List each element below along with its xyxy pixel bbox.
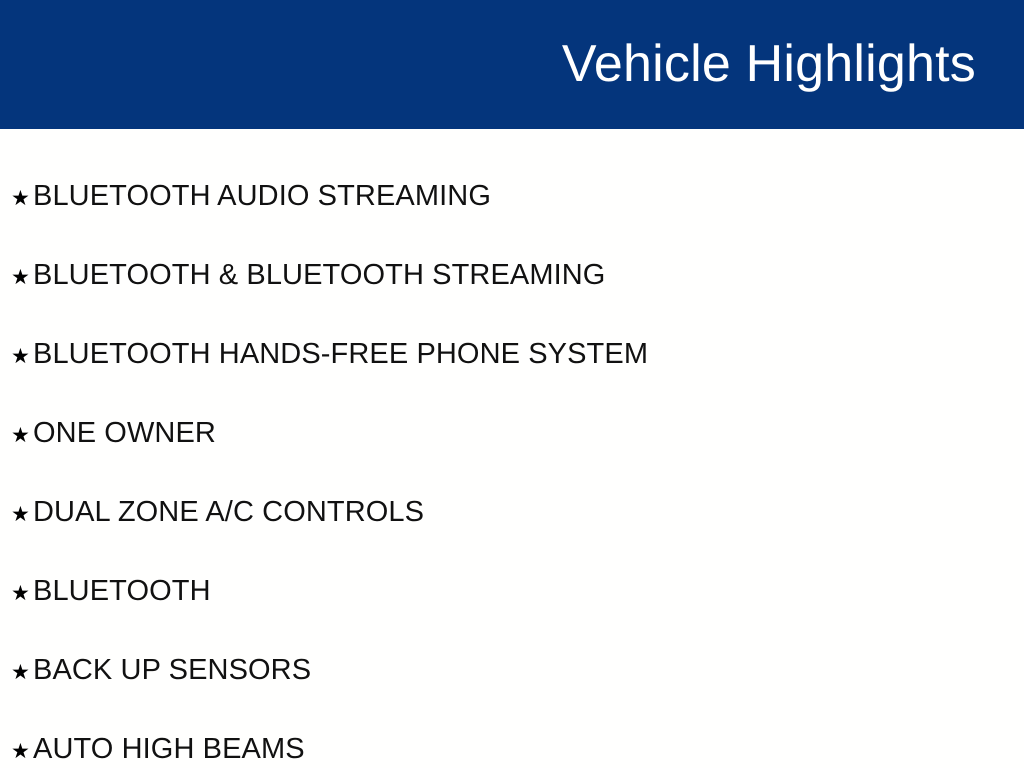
highlight-label: BLUETOOTH & BLUETOOTH STREAMING <box>33 261 1024 290</box>
highlight-label: BLUETOOTH <box>33 577 1024 606</box>
list-item: ★ ONE OWNER <box>0 366 1024 445</box>
star-icon: ★ <box>0 346 33 367</box>
highlight-label: AUTO HIGH BEAMS <box>33 735 1024 764</box>
highlight-label: DUAL ZONE A/C CONTROLS <box>33 498 1024 527</box>
highlight-label: BLUETOOTH HANDS-FREE PHONE SYSTEM <box>33 340 1024 369</box>
highlight-label: BLUETOOTH AUDIO STREAMING <box>33 182 1024 211</box>
list-item: ★ BLUETOOTH & BLUETOOTH STREAMING <box>0 208 1024 287</box>
highlight-label: BACK UP SENSORS <box>33 656 1024 685</box>
vehicle-highlights-list: ★ BLUETOOTH AUDIO STREAMING ★ BLUETOOTH … <box>0 129 1024 761</box>
header-band: Vehicle Highlights <box>0 0 1024 129</box>
star-icon: ★ <box>0 267 33 288</box>
star-icon: ★ <box>0 741 33 762</box>
star-icon: ★ <box>0 188 33 209</box>
page-title: Vehicle Highlights <box>562 38 976 90</box>
list-item: ★ DUAL ZONE A/C CONTROLS <box>0 445 1024 524</box>
list-item: ★ BLUETOOTH AUDIO STREAMING <box>0 129 1024 208</box>
list-item: ★ BLUETOOTH HANDS-FREE PHONE SYSTEM <box>0 287 1024 366</box>
star-icon: ★ <box>0 504 33 525</box>
star-icon: ★ <box>0 425 33 446</box>
list-item: ★ AUTO HIGH BEAMS <box>0 682 1024 761</box>
list-item: ★ BLUETOOTH <box>0 524 1024 603</box>
list-item: ★ BACK UP SENSORS <box>0 603 1024 682</box>
star-icon: ★ <box>0 662 33 683</box>
star-icon: ★ <box>0 583 33 604</box>
highlight-label: ONE OWNER <box>33 419 1024 448</box>
vehicle-highlights-slide: Vehicle Highlights ★ BLUETOOTH AUDIO STR… <box>0 0 1024 768</box>
